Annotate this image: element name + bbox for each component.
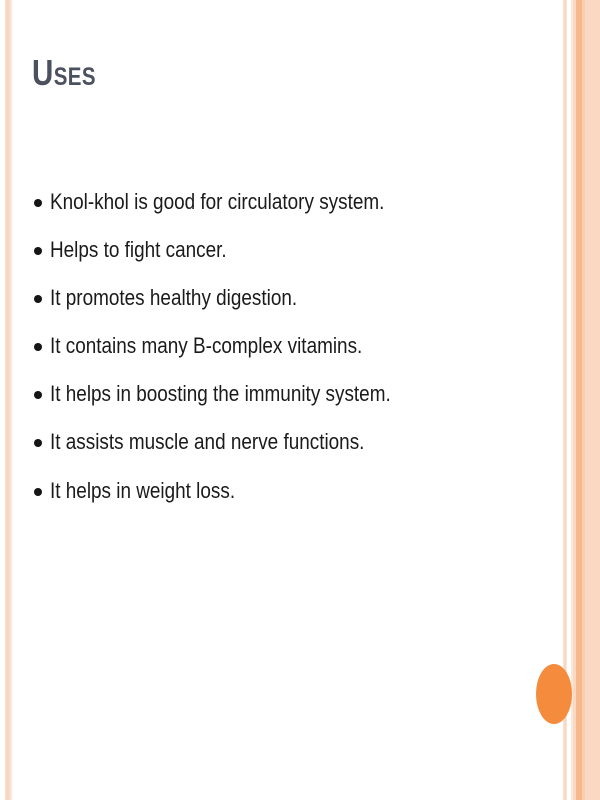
slide-title: Uses	[32, 55, 96, 91]
orange-ellipse-decoration	[536, 664, 572, 724]
list-item: Knol-khol is good for circulatory system…	[34, 190, 554, 213]
list-item-label: Knol-khol is good for circulatory system…	[50, 190, 384, 213]
bullet-dot-icon	[34, 391, 42, 399]
list-item-label: It helps in weight loss.	[50, 479, 235, 502]
bullet-dot-icon	[34, 295, 42, 303]
slide-canvas: Uses Knol-khol is good for circulatory s…	[0, 0, 600, 800]
bullet-list: Knol-khol is good for circulatory system…	[34, 190, 554, 527]
list-item-label: It helps in boosting the immunity system…	[50, 382, 391, 405]
left-decorative-stripe	[5, 0, 12, 800]
bullet-dot-icon	[34, 439, 42, 447]
bullet-dot-icon	[34, 343, 42, 351]
bullet-dot-icon	[34, 488, 42, 496]
list-item-label: Helps to fight cancer.	[50, 238, 227, 261]
list-item: It promotes healthy digestion.	[34, 286, 554, 309]
list-item: It helps in boosting the immunity system…	[34, 382, 554, 405]
right-band-edge-stripe	[582, 0, 585, 800]
list-item: Helps to fight cancer.	[34, 238, 554, 261]
bullet-dot-icon	[34, 247, 42, 255]
list-item-label: It promotes healthy digestion.	[50, 286, 297, 309]
list-item: It helps in weight loss.	[34, 479, 554, 502]
list-item-label: It assists muscle and nerve functions.	[50, 430, 364, 453]
list-item: It assists muscle and nerve functions.	[34, 430, 554, 453]
list-item-label: It contains many B-complex vitamins.	[50, 334, 362, 357]
bullet-dot-icon	[34, 199, 42, 207]
list-item: It contains many B-complex vitamins.	[34, 334, 554, 357]
